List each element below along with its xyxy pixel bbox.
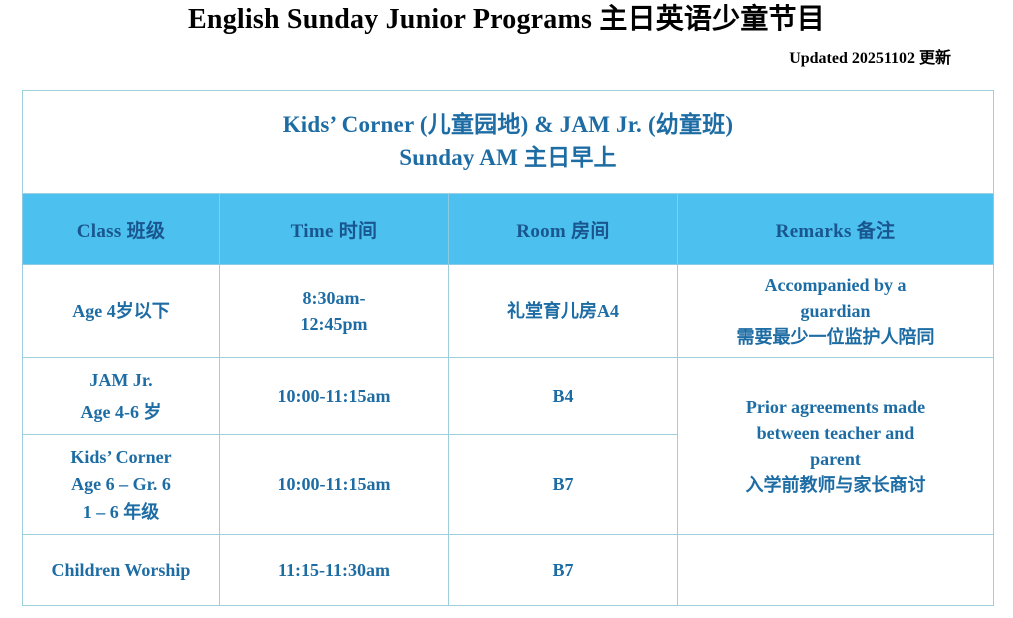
cell-room: B7 [449,435,678,535]
table-row: Age 4岁以下 8:30am- 12:45pm 礼堂育儿房A4 Accompa… [23,265,994,358]
class-line: Age 4-6 岁 [27,399,215,425]
schedule-table: Kids’ Corner (儿童园地) & JAM Jr. (幼童班) Sund… [22,90,994,606]
banner-line-2: Sunday AM 主日早上 [27,142,989,175]
cell-remarks-merged: Prior agreements made between teacher an… [678,358,994,535]
cell-room: B7 [449,535,678,606]
column-header-time: Time 时间 [220,194,449,265]
cell-room: B4 [449,358,678,435]
class-line: Age 4岁以下 [27,298,215,324]
remarks-line: between teacher and [682,420,989,446]
class-line: Kids’ Corner [27,444,215,470]
remarks-line: Prior agreements made [682,394,989,420]
column-header-room: Room 房间 [449,194,678,265]
banner-line-1: Kids’ Corner (儿童园地) & JAM Jr. (幼童班) [27,109,989,142]
remarks-line: 入学前教师与家长商讨 [682,472,989,498]
time-line: 8:30am- [224,285,444,311]
remarks-line: guardian [682,298,989,324]
class-line: 1 – 6 年级 [27,499,215,525]
cell-time: 8:30am- 12:45pm [220,265,449,358]
column-header-row: Class 班级 Time 时间 Room 房间 Remarks 备注 [23,194,994,265]
remarks-line: parent [682,446,989,472]
cell-class: Children Worship [23,535,220,606]
table-banner-row: Kids’ Corner (儿童园地) & JAM Jr. (幼童班) Sund… [23,91,994,194]
page-title: English Sunday Junior Programs 主日英语少童节目 [0,4,1013,36]
column-header-remarks: Remarks 备注 [678,194,994,265]
cell-time: 10:00-11:15am [220,358,449,435]
cell-remarks-empty [678,535,994,606]
remarks-line: 需要最少一位监护人陪同 [682,324,989,350]
cell-remarks: Accompanied by a guardian 需要最少一位监护人陪同 [678,265,994,358]
schedule-page: English Sunday Junior Programs 主日英语少童节目 … [0,0,1013,618]
class-line: JAM Jr. [27,367,215,393]
cell-class: Kids’ Corner Age 6 – Gr. 6 1 – 6 年级 [23,435,220,535]
table-row: JAM Jr. Age 4-6 岁 10:00-11:15am B4 Prior… [23,358,994,435]
class-line: Age 6 – Gr. 6 [27,471,215,497]
cell-room: 礼堂育儿房A4 [449,265,678,358]
cell-class: Age 4岁以下 [23,265,220,358]
time-line: 12:45pm [224,311,444,337]
cell-class: JAM Jr. Age 4-6 岁 [23,358,220,435]
table-row: Children Worship 11:15-11:30am B7 [23,535,994,606]
remarks-line: Accompanied by a [682,272,989,298]
cell-time: 11:15-11:30am [220,535,449,606]
updated-timestamp: Updated 20251102 更新 [0,44,1013,68]
heading-block: English Sunday Junior Programs 主日英语少童节目 … [0,0,1013,68]
cell-time: 10:00-11:15am [220,435,449,535]
schedule-table-wrapper: Kids’ Corner (儿童园地) & JAM Jr. (幼童班) Sund… [22,90,993,606]
column-header-class: Class 班级 [23,194,220,265]
banner-cell: Kids’ Corner (儿童园地) & JAM Jr. (幼童班) Sund… [23,91,994,194]
